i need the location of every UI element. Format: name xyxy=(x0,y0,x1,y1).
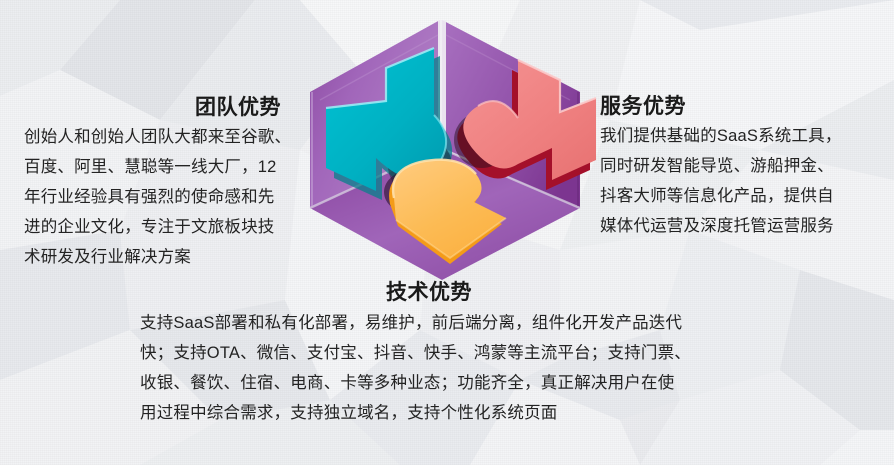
tech-line-1: 支持SaaS部署和私有化部署，易维护，前后端分离，组件化开发产品迭代 xyxy=(140,308,760,338)
team-line-1: 创始人和创始人团队大都来至谷歌、 xyxy=(24,122,296,152)
team-line-2: 百度、阿里、慧聪等一线大厂，12 xyxy=(24,152,296,182)
team-advantage-heading: 团队优势 xyxy=(195,97,281,118)
tech-line-4: 用过程中综合需求，支持独立域名，支持个性化系统页面 xyxy=(140,398,760,428)
service-line-1: 我们提供基础的SaaS系统工具， xyxy=(600,121,878,151)
cube-graphic xyxy=(290,8,610,293)
service-advantage-heading: 服务优势 xyxy=(600,96,686,117)
tech-line-3: 收银、餐饮、住宿、电商、卡等多种业态；功能齐全，真正解决用户在使 xyxy=(140,368,760,398)
team-line-5: 术研发及行业解决方案 xyxy=(24,242,296,272)
service-line-4: 媒体代运营及深度托管运营服务 xyxy=(600,211,878,241)
service-line-2: 同时研发智能导览、游船押金、 xyxy=(600,151,878,181)
team-advantage-body: 创始人和创始人团队大都来至谷歌、 百度、阿里、慧聪等一线大厂，12 年行业经验具… xyxy=(24,122,296,272)
tech-advantage-heading: 技术优势 xyxy=(386,282,472,303)
tech-line-2: 快；支持OTA、微信、支付宝、抖音、快手、鸿蒙等主流平台；支持门票、 xyxy=(140,338,760,368)
slide-canvas: 团队优势 创始人和创始人团队大都来至谷歌、 百度、阿里、慧聪等一线大厂，12 年… xyxy=(0,0,894,465)
tech-advantage-body: 支持SaaS部署和私有化部署，易维护，前后端分离，组件化开发产品迭代 快；支持O… xyxy=(140,308,760,428)
team-line-4: 进的企业文化，专注于文旅板块技 xyxy=(24,212,296,242)
cube-illustration xyxy=(290,8,610,293)
service-advantage-body: 我们提供基础的SaaS系统工具， 同时研发智能导览、游船押金、 抖客大师等信息化… xyxy=(600,121,878,241)
team-line-3: 年行业经验具有强烈的使命感和先 xyxy=(24,182,296,212)
service-line-3: 抖客大师等信息化产品，提供自 xyxy=(600,181,878,211)
